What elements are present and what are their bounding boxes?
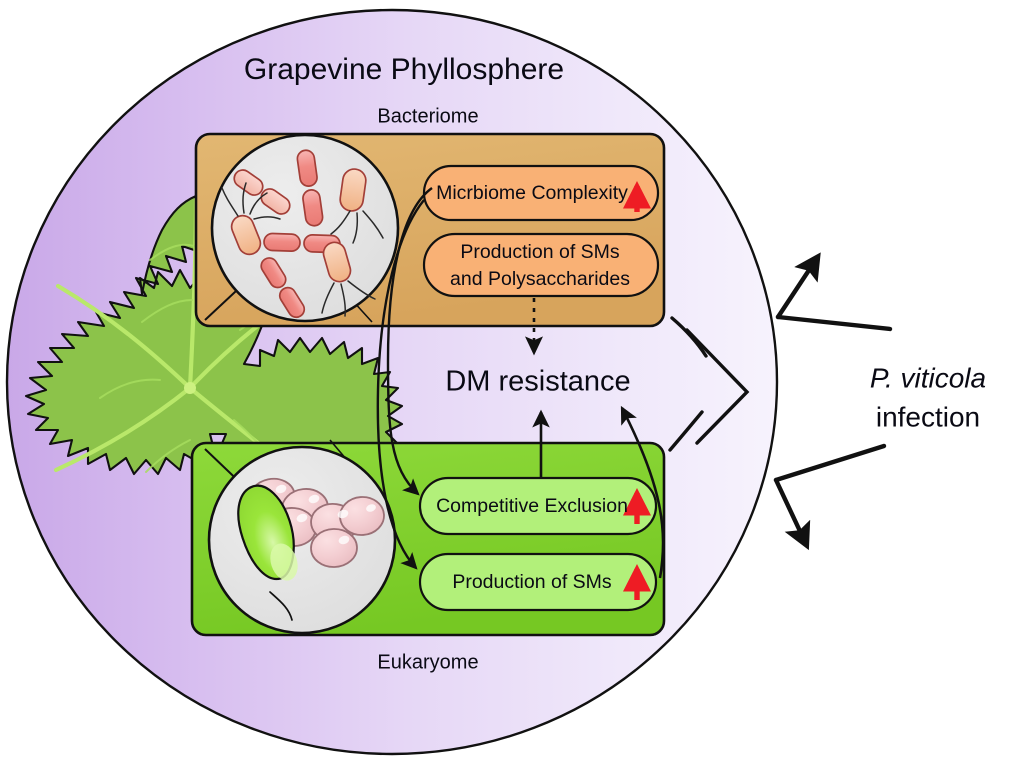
pathogen-infection-label: infection (876, 401, 980, 432)
box-label-production-line2: and Polysaccharides (450, 268, 630, 290)
deflected-arrow-down (776, 480, 806, 544)
dm-resistance-label: DM resistance (445, 366, 630, 398)
pathogen-name: P. viticola (870, 362, 986, 393)
bacteriome-panel (196, 134, 664, 326)
incoming-ray-lower (776, 446, 884, 480)
box-label-exclusion: Competitive Exclusion (436, 495, 628, 517)
incoming-ray-upper (778, 317, 890, 329)
eukaryote-inset (209, 447, 395, 633)
figure-root: Grapevine Phyllosphere Bacteriome Eukary… (0, 0, 1023, 763)
eukaryome-panel (192, 440, 664, 635)
diagram-canvas: Grapevine Phyllosphere Bacteriome Eukary… (0, 0, 1023, 763)
bacteria-inset (212, 135, 398, 321)
box-label-complexity: Micrbiome Complexity (436, 182, 628, 204)
box-label-eusms: Production of SMs (452, 571, 612, 593)
eukaryome-label: Eukaryome (377, 651, 478, 673)
deflected-arrow-up (778, 258, 817, 317)
box-label-production-line1: Production of SMs (460, 241, 620, 263)
deflected-arrows (776, 258, 890, 544)
bacteriome-label: Bacteriome (377, 105, 478, 127)
page-title: Grapevine Phyllosphere (244, 53, 564, 86)
